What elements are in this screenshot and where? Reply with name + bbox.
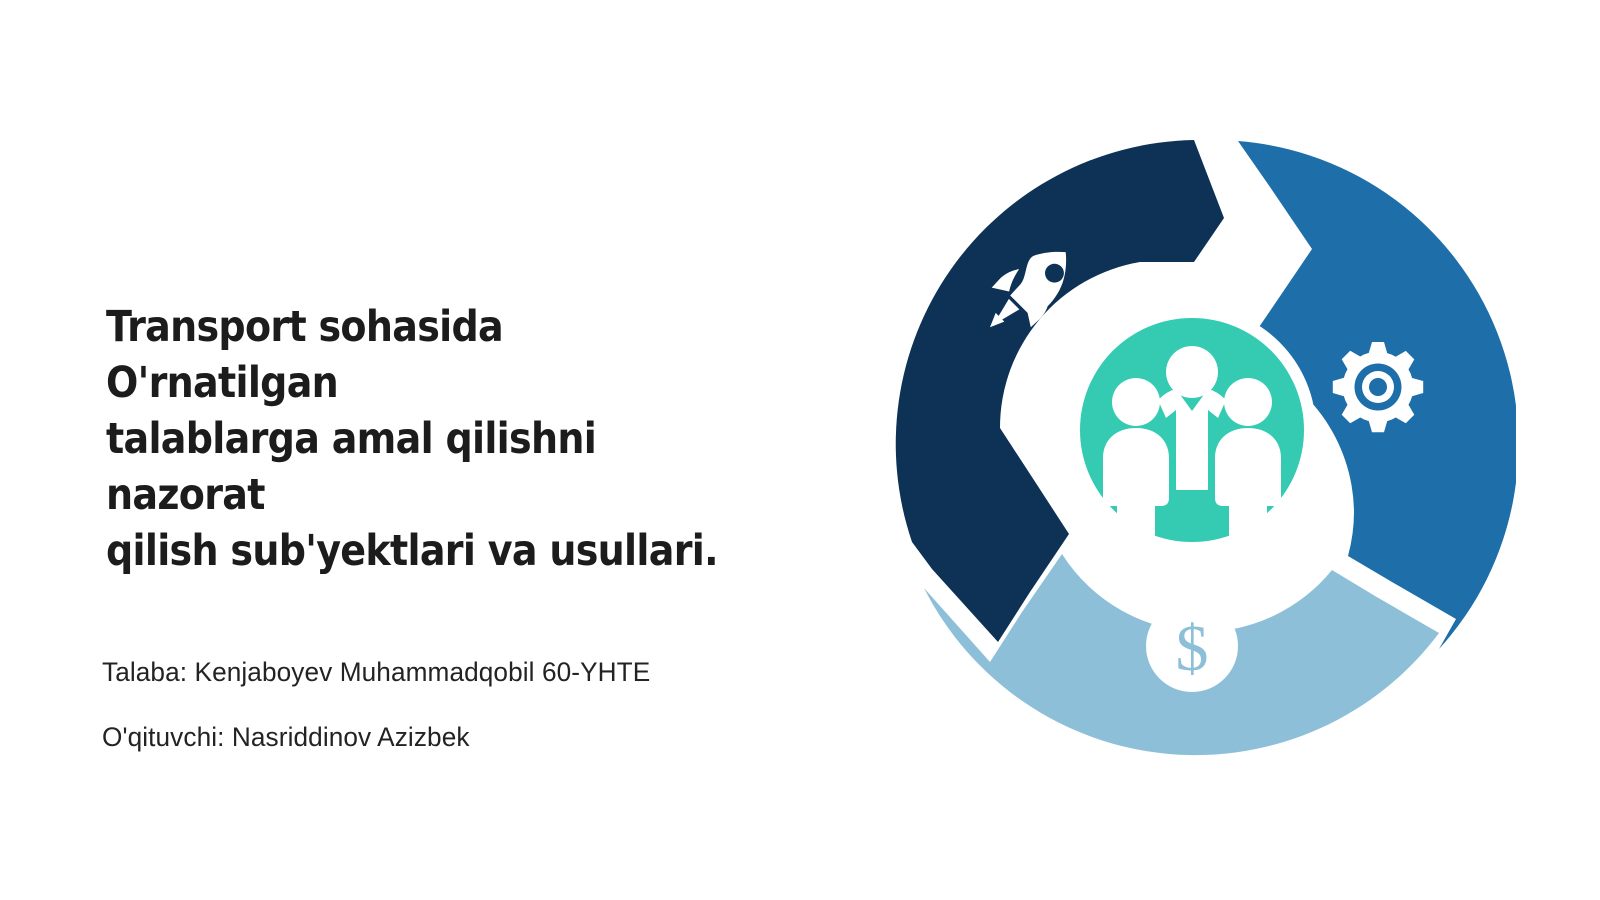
cycle-diagram: $ <box>872 122 1516 770</box>
text-column: Transport sohasida O'rnatilgan talablarg… <box>106 300 806 579</box>
credits-block: Talaba: Kenjaboyev Muhammadqobil 60-YHTE… <box>102 656 862 755</box>
credit-line-student: Talaba: Kenjaboyev Muhammadqobil 60-YHTE <box>102 656 839 690</box>
page-title: Transport sohasida O'rnatilgan talablarg… <box>106 300 726 579</box>
center-hub[interactable] <box>1068 306 1316 554</box>
dollar-icon: $ <box>1146 600 1238 692</box>
dollar-glyph: $ <box>1176 612 1209 685</box>
cycle-diagram-svg: $ <box>872 122 1516 770</box>
slide-canvas: Transport sohasida O'rnatilgan talablarg… <box>0 0 1600 900</box>
credit-line-teacher: O'qituvchi: Nasriddinov Azizbek <box>102 721 839 755</box>
